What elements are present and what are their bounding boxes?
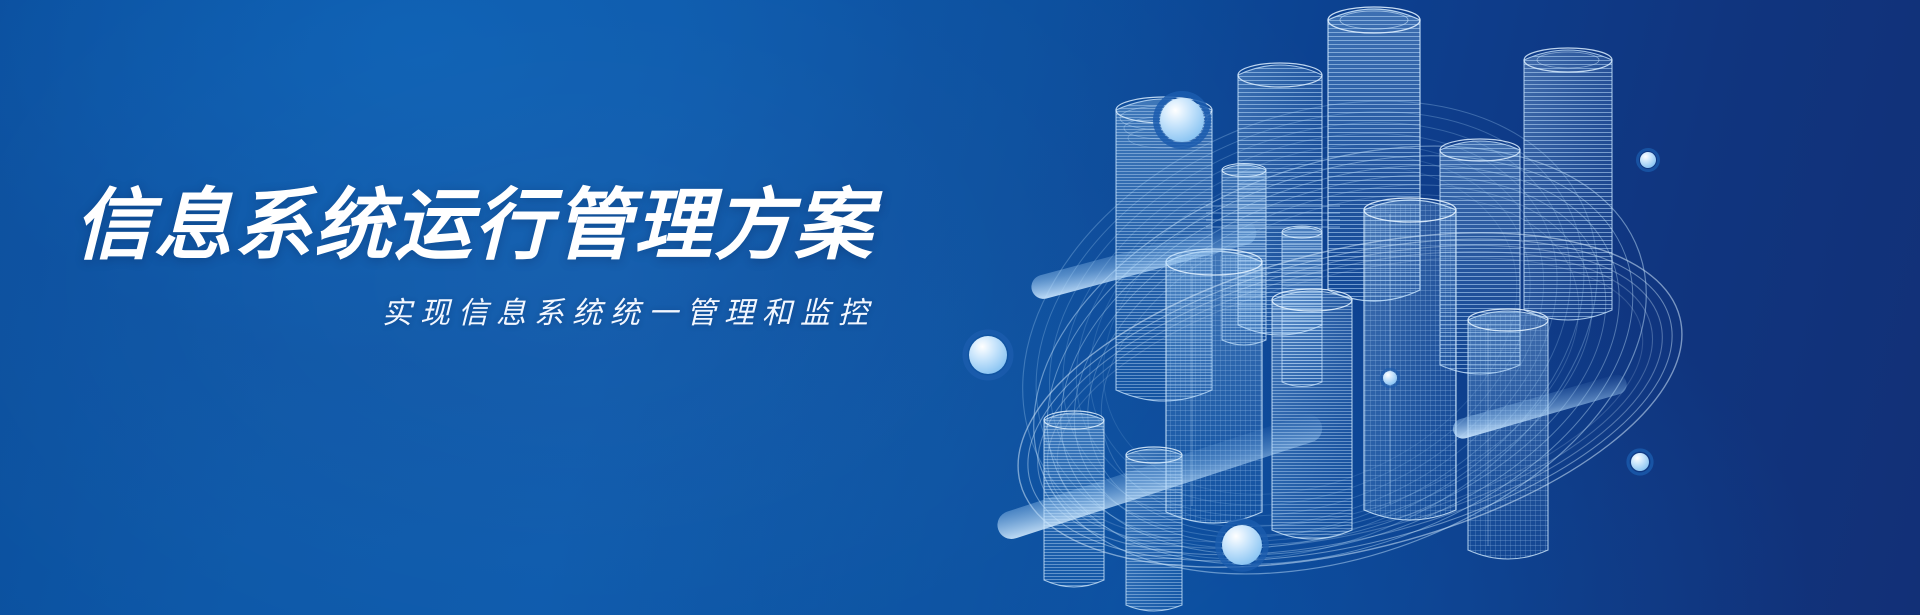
- buildings-back: [1108, 7, 1622, 404]
- orbit-rings-front: [974, 67, 1706, 615]
- glow-dot-3: [1638, 150, 1659, 171]
- tower-mid: [1432, 139, 1530, 384]
- glow-dot-6: [1381, 369, 1399, 387]
- tower-stepped-left: [1108, 97, 1222, 404]
- hero-banner: 信息系统运行管理方案 实现信息系统统一管理和监控: [0, 0, 1920, 615]
- wireframe-city-illustration: [920, 0, 1920, 615]
- tower-slim-a: [1216, 164, 1274, 355]
- tower-right-tall: [1516, 48, 1622, 334]
- orbit-ring-foreground: [984, 172, 1716, 615]
- tower-tall-center: [1320, 7, 1430, 314]
- tower-slim-b: [1276, 226, 1330, 396]
- page-title: 信息系统运行管理方案: [74, 186, 894, 264]
- orbit-rings-group: [950, 14, 1671, 615]
- glow-dot-5: [1218, 521, 1266, 569]
- tower-front-right: [1460, 309, 1558, 574]
- tower-front-left-tall: [1158, 249, 1272, 536]
- light-streaks-group: [994, 218, 1629, 542]
- city-svg: [920, 0, 1920, 615]
- page-subtitle: 实现信息系统统一管理和监控: [74, 288, 894, 332]
- glow-dots-group: [965, 94, 1659, 569]
- buildings-front: [1038, 63, 1558, 615]
- banner-text-block: 信息系统运行管理方案 实现信息系统统一管理和监控: [74, 186, 894, 332]
- glow-dot-2: [965, 332, 1011, 378]
- light-streak-top: [1029, 218, 1259, 301]
- tower-front-center: [1356, 198, 1466, 534]
- tower-foreground-b: [1120, 447, 1190, 615]
- tower-front-left: [1230, 63, 1332, 348]
- light-streak-right: [1451, 372, 1630, 441]
- tower-foreground-a: [1038, 411, 1112, 594]
- light-streak-bottom: [994, 411, 1326, 543]
- skyline-connector-lines: [1206, 206, 1340, 227]
- tower-front-slab: [1264, 289, 1362, 554]
- glow-dot-1: [1156, 94, 1208, 146]
- glow-dot-4: [1628, 450, 1652, 474]
